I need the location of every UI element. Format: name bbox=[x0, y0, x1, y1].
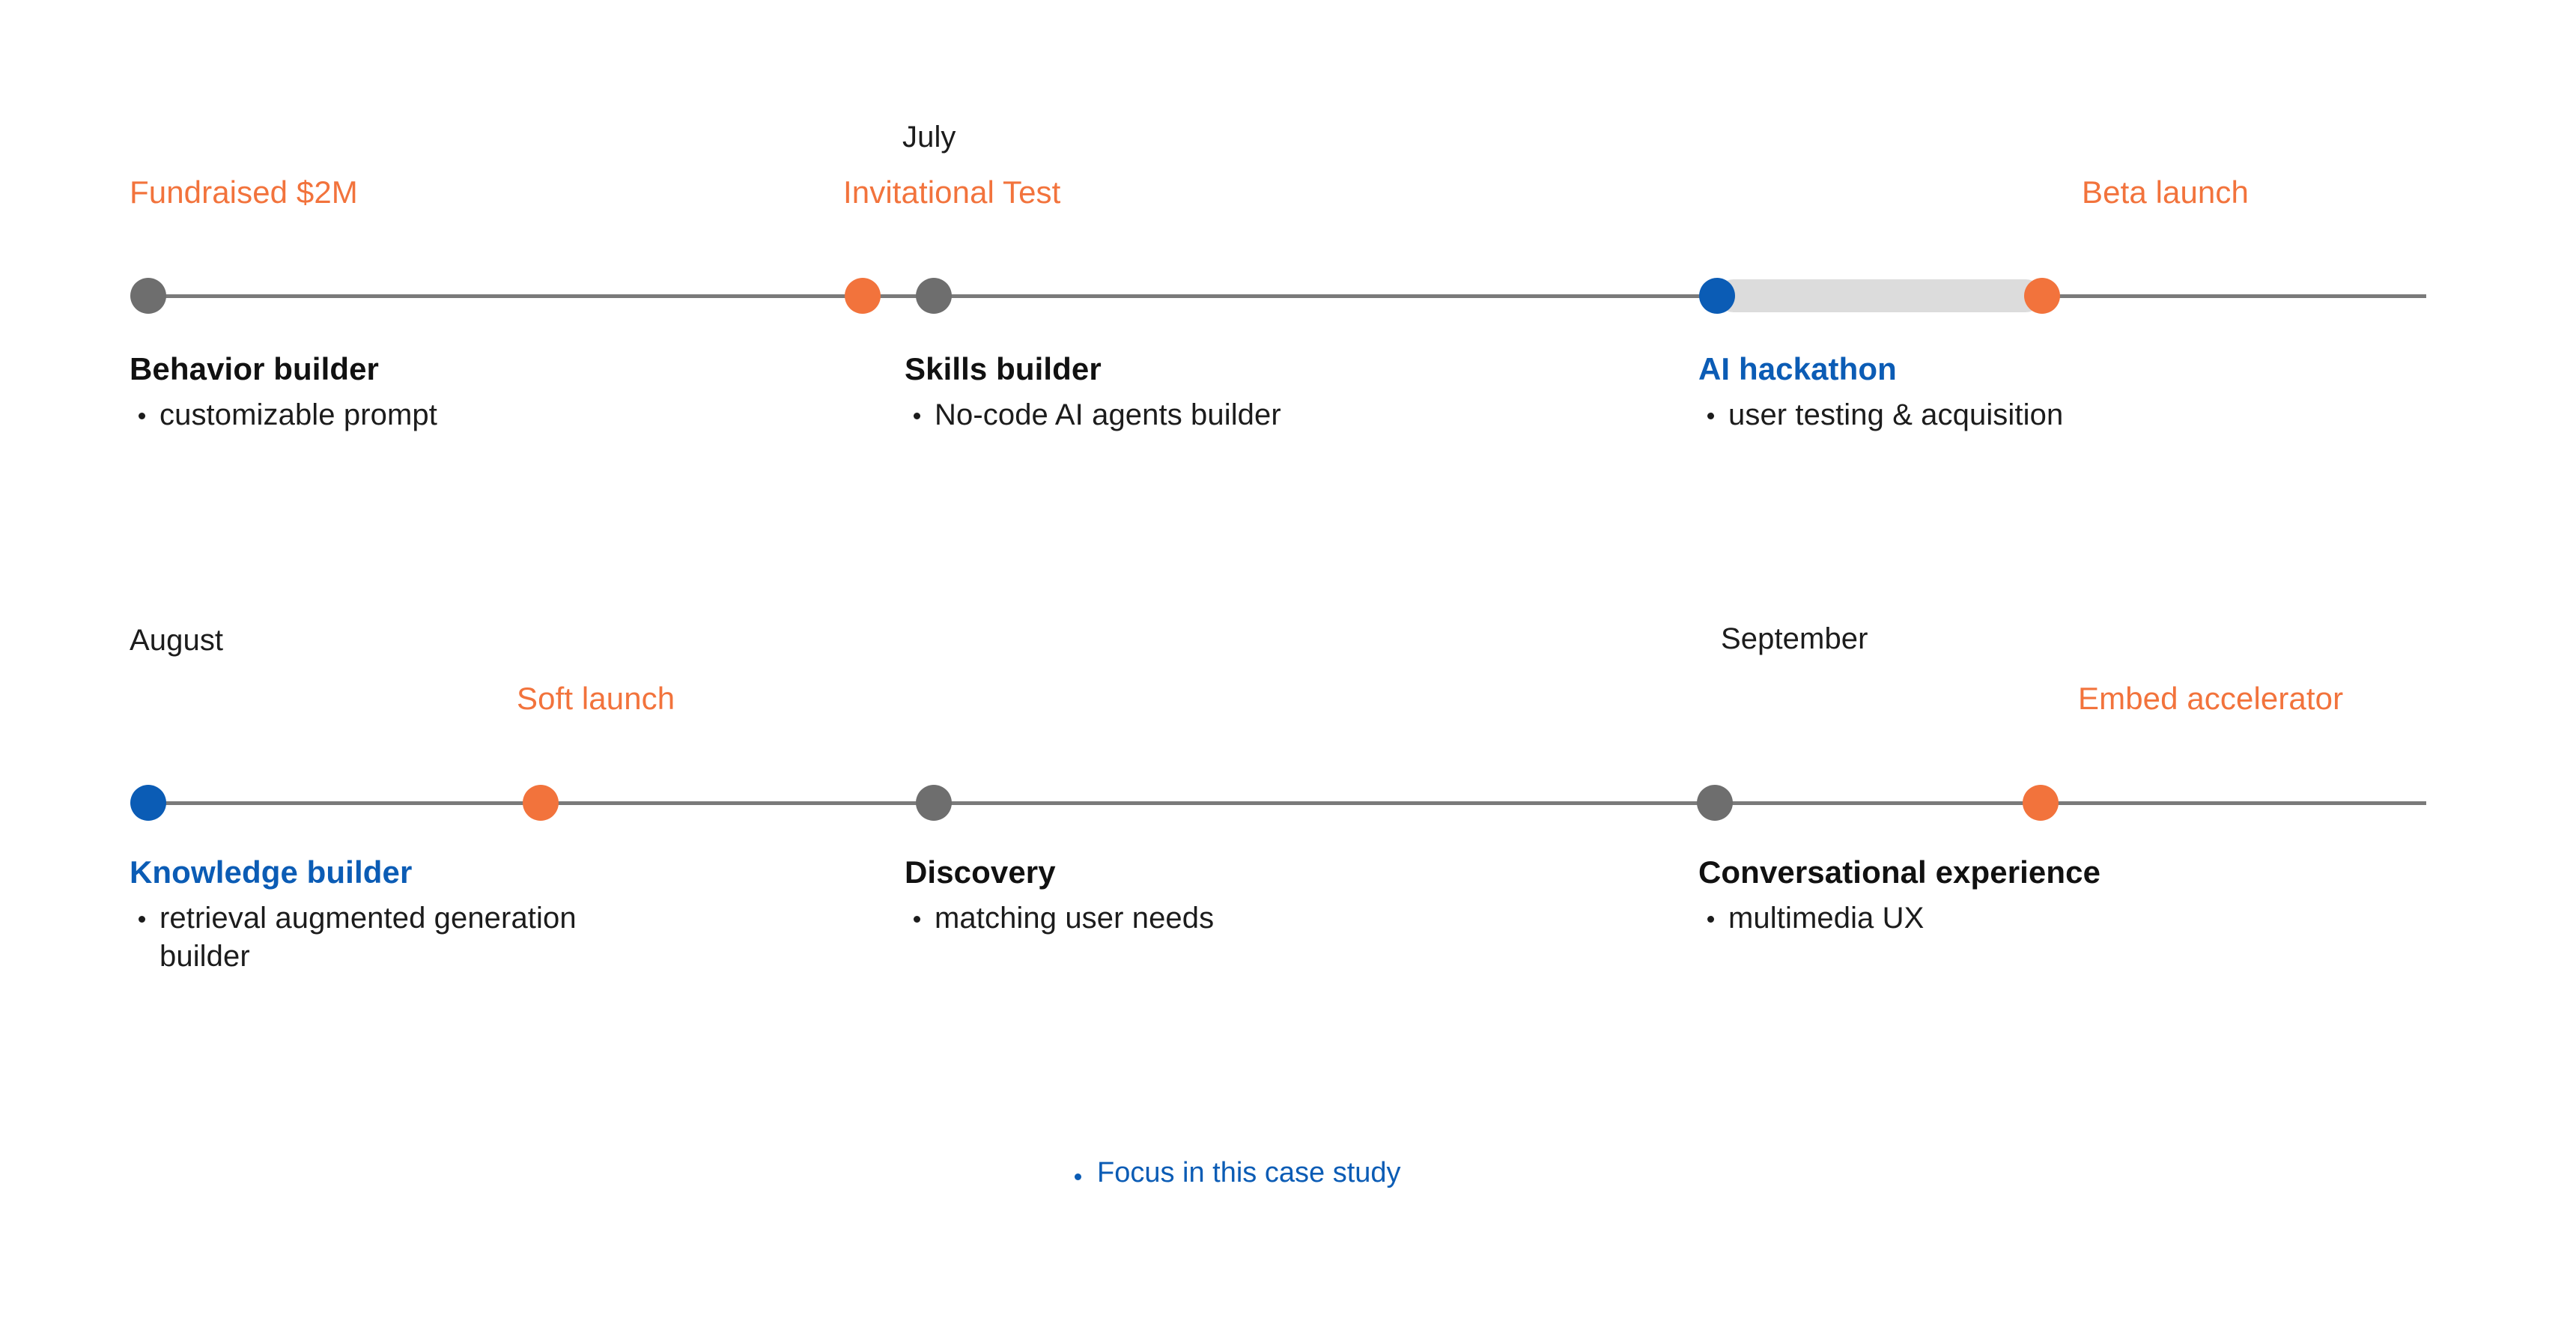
timeline-diagram: July Fundraised $2M Invitational Test Be… bbox=[0, 0, 2576, 1333]
timeline-node-invitational-test[interactable] bbox=[845, 278, 881, 314]
entry-title: AI hackathon bbox=[1698, 352, 2063, 386]
rail-segment-1d bbox=[2042, 294, 2426, 298]
milestone-label-invitational-test: Invitational Test bbox=[843, 174, 1060, 211]
milestone-label-beta-launch: Beta launch bbox=[2082, 174, 2249, 211]
rail-segment-2b bbox=[541, 801, 934, 805]
entry-bullet: retrieval augmented generation builder bbox=[130, 899, 624, 976]
rail-segment-1c bbox=[934, 294, 1717, 298]
entry-title: Knowledge builder bbox=[130, 855, 624, 890]
entry-bullet-list: matching user needs bbox=[905, 899, 1214, 938]
timeline-node-skills-builder[interactable] bbox=[916, 278, 952, 314]
rail-segment-2a bbox=[148, 801, 541, 805]
entry-bullet: No-code AI agents builder bbox=[905, 396, 1281, 434]
entry-knowledge-builder: Knowledge builder retrieval augmented ge… bbox=[130, 855, 624, 977]
month-label-august: August bbox=[130, 623, 223, 658]
entry-bullet: matching user needs bbox=[905, 899, 1214, 938]
rail-segment-1a bbox=[148, 294, 863, 298]
rail-segment-2e bbox=[2041, 801, 2426, 805]
entry-title: Conversational experience bbox=[1698, 855, 2100, 890]
entry-title: Behavior builder bbox=[130, 352, 437, 386]
entry-bullet-list: No-code AI agents builder bbox=[905, 396, 1281, 434]
entry-title: Discovery bbox=[905, 855, 1214, 890]
entry-skills-builder: Skills builder No-code AI agents builder bbox=[905, 352, 1281, 434]
timeline-node-ai-hackathon[interactable] bbox=[1699, 278, 1735, 314]
milestone-label-embed-accelerator: Embed accelerator bbox=[2078, 680, 2343, 717]
rail-segment-2c bbox=[934, 801, 1715, 805]
entry-ai-hackathon: AI hackathon user testing & acquisition bbox=[1698, 352, 2063, 434]
highlighted-span-bar bbox=[1717, 279, 2042, 312]
entry-bullet: customizable prompt bbox=[130, 396, 437, 434]
entry-bullet-list: retrieval augmented generation builder bbox=[130, 899, 624, 976]
legend-focus-note: Focus in this case study bbox=[1067, 1157, 1401, 1189]
milestone-label-soft-launch: Soft launch bbox=[517, 680, 675, 717]
timeline-node-knowledge-builder[interactable] bbox=[130, 785, 166, 821]
entry-bullet-list: multimedia UX bbox=[1698, 899, 2100, 938]
entry-bullet-list: user testing & acquisition bbox=[1698, 396, 2063, 434]
timeline-node-conversational-experience[interactable] bbox=[1697, 785, 1733, 821]
entry-discovery: Discovery matching user needs bbox=[905, 855, 1214, 938]
entry-bullet: multimedia UX bbox=[1698, 899, 2100, 938]
entry-title: Skills builder bbox=[905, 352, 1281, 386]
month-label-july: July bbox=[902, 120, 956, 155]
timeline-node-embed-accelerator[interactable] bbox=[2023, 785, 2059, 821]
entry-bullet: user testing & acquisition bbox=[1698, 396, 2063, 434]
rail-segment-2d bbox=[1715, 801, 2041, 805]
timeline-node-soft-launch[interactable] bbox=[523, 785, 559, 821]
timeline-node-beta-launch[interactable] bbox=[2024, 278, 2060, 314]
entry-behavior-builder: Behavior builder customizable prompt bbox=[130, 352, 437, 434]
timeline-node-behavior-builder[interactable] bbox=[130, 278, 166, 314]
timeline-node-discovery[interactable] bbox=[916, 785, 952, 821]
entry-conversational-experience: Conversational experience multimedia UX bbox=[1698, 855, 2100, 938]
milestone-label-fundraised: Fundraised $2M bbox=[130, 174, 358, 211]
entry-bullet-list: customizable prompt bbox=[130, 396, 437, 434]
month-label-september: September bbox=[1721, 622, 1868, 657]
